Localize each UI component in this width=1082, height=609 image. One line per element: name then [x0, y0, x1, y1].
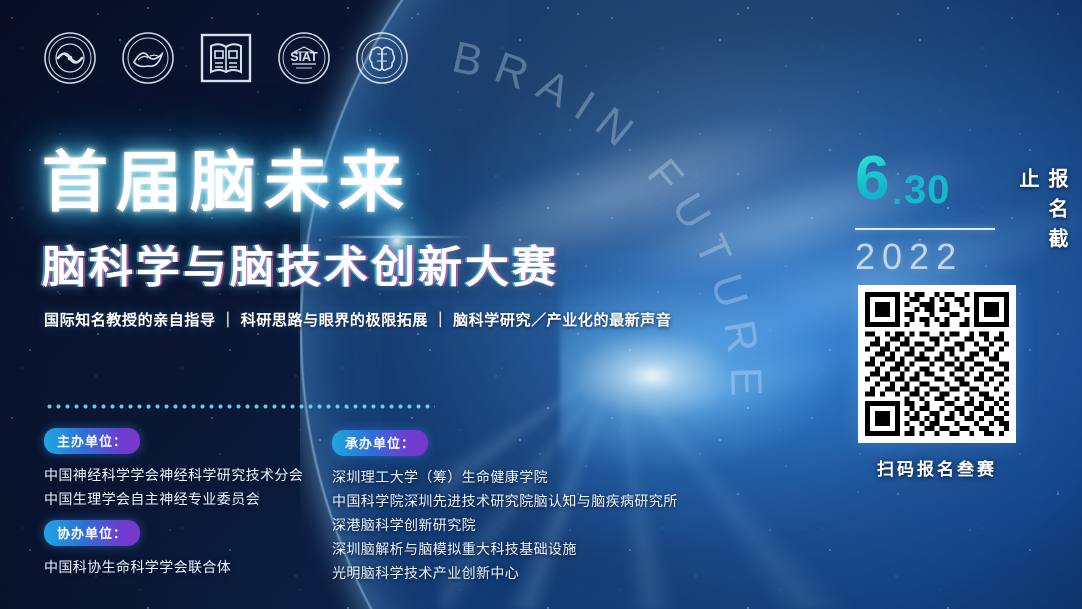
deadline-separator: . — [892, 176, 901, 210]
list-item: 深圳理工大学（筹）生命健康学院 — [332, 465, 802, 489]
list-item: 中国科协生命科学学会联合体 — [44, 555, 344, 579]
page-title: 首届脑未来 — [42, 148, 559, 217]
host-badge: 主办单位： — [44, 428, 140, 454]
list-item: 中国神经科学学会神经科学研究技术分会 — [44, 463, 344, 487]
coorganizer-column: 协办单位： 中国科协生命科学学会联合体 — [44, 520, 344, 579]
list-item: 中国生理学会自主神经专业委员会 — [44, 487, 344, 511]
deadline-block: 6 . 30 2022 报名截止 — [855, 150, 1071, 280]
deadline-month: 6 — [855, 150, 889, 207]
book-brain-emblem-logo — [198, 30, 254, 86]
partner-logo-row: SIAT — [42, 30, 410, 86]
deadline-day: 30 — [904, 170, 951, 210]
cns-neuroscience-society-logo — [42, 30, 98, 86]
qr-caption: 扫码报名叁赛 — [858, 455, 1016, 480]
siat-logo: SIAT — [276, 30, 332, 86]
host-column: 主办单位： 中国神经科学学会神经科学研究技术分会 中国生理学会自主神经专业委员会 — [44, 428, 344, 511]
headline-block: 首届脑未来 脑科学与脑技术创新大赛 — [42, 148, 559, 295]
deadline-year: 2022 — [855, 236, 1003, 278]
brain-cognition-institute-logo — [354, 30, 410, 86]
deadline-label: 报名截止 — [1013, 150, 1071, 280]
deadline-date: 6 . 30 — [855, 150, 1003, 214]
undertaker-badge: 承办单位： — [332, 430, 428, 456]
deadline-rule — [855, 228, 995, 230]
dotted-divider — [45, 404, 435, 409]
undertaker-column: 承办单位： 深圳理工大学（筹）生命健康学院 中国科学院深圳先进技术研究院脑认知与… — [332, 430, 802, 585]
coorganizer-badge: 协办单位： — [44, 520, 140, 546]
list-item: 中国科学院深圳先进技术研究院脑认知与脑疾病研究所 — [332, 489, 802, 513]
deadline-date-group: 6 . 30 2022 — [855, 150, 1003, 280]
poster-canvas: BRAIN FUTURE SIAT 首届脑未来 脑科学与脑技术创新大赛 国际知名… — [0, 0, 1082, 609]
page-subtitle: 脑科学与脑技术创新大赛 — [42, 231, 559, 295]
physiological-society-logo — [120, 30, 176, 86]
qr-code-icon[interactable] — [858, 285, 1016, 443]
list-item: 光明脑科学技术产业创新中心 — [332, 561, 802, 585]
list-item: 深港脑科学创新研究院 — [332, 513, 802, 537]
list-item: 深圳脑解析与脑模拟重大科技基础设施 — [332, 537, 802, 561]
tagline-text: 国际知名教授的亲自指导 ｜ 科研思路与眼界的极限拓展 ｜ 脑科学研究／产业化的最… — [44, 309, 671, 330]
qr-code-matrix — [865, 292, 1009, 436]
